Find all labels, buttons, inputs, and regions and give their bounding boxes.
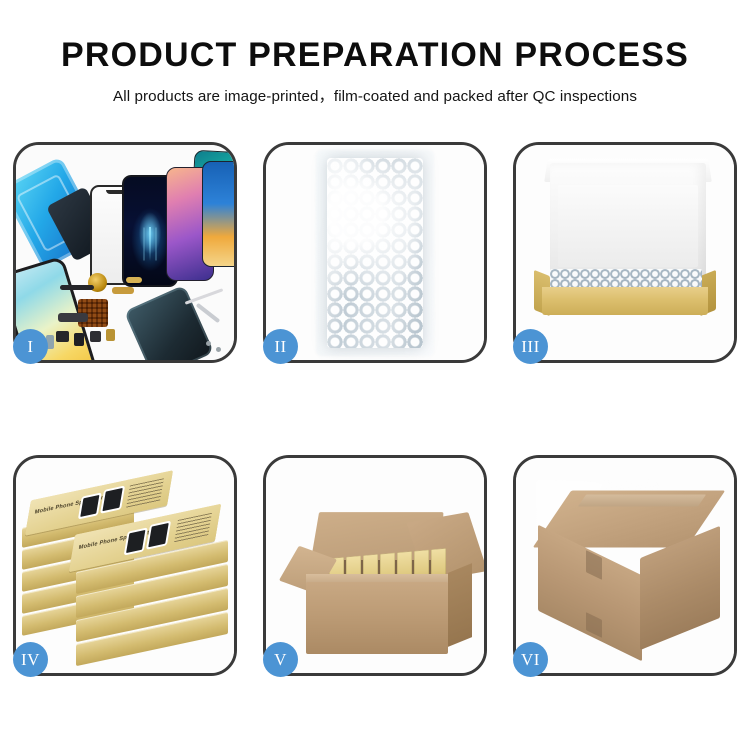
foam-insert-image — [558, 185, 698, 267]
gold-connector-part-image — [126, 277, 142, 283]
step-panel-3: III — [513, 142, 737, 363]
step-panel-4: Mobile Phone Spare Parts Mobile Phone Sp… — [13, 455, 237, 676]
flex-bar-part-image — [60, 285, 94, 290]
kraft-tray-front-image — [542, 287, 708, 315]
step-panel-5: V — [263, 455, 487, 676]
step-panel-6: VI — [513, 455, 737, 676]
step-badge-4: IV — [13, 642, 48, 677]
header: PRODUCT PREPARATION PROCESS All products… — [0, 0, 750, 104]
small-component-a-image — [56, 331, 69, 342]
step-badge-1: I — [13, 329, 48, 364]
small-component-c-image — [90, 331, 101, 342]
step-image-4: Mobile Phone Spare Parts Mobile Phone Sp… — [16, 458, 234, 673]
carton-right-side-image — [448, 563, 472, 647]
page-title: PRODUCT PREPARATION PROCESS — [0, 0, 750, 72]
step-badge-6: VI — [513, 642, 548, 677]
step-panel-1: I — [13, 142, 237, 363]
small-component-d-image — [106, 329, 115, 341]
open-carton-image — [284, 498, 472, 658]
bubble-wrap-image — [327, 158, 423, 348]
carton-front-face-image — [306, 582, 448, 654]
sealed-carton-image — [536, 488, 722, 654]
retail-box-stack-image: Mobile Phone Spare Parts Mobile Phone Sp… — [20, 480, 234, 660]
step-image-3 — [516, 145, 734, 360]
step-panel-2: II — [263, 142, 487, 363]
flex-cable-part-image — [58, 313, 88, 322]
step-image-1 — [16, 145, 234, 360]
step-image-6 — [516, 458, 734, 673]
screw-b-image — [216, 347, 221, 352]
step-badge-2: II — [263, 329, 298, 364]
packing-tape-image — [578, 495, 706, 507]
step-image-2 — [266, 145, 484, 360]
tweezer-tool-image — [185, 288, 224, 304]
gold-flex-part-image — [112, 287, 134, 294]
screw-a-image — [206, 341, 211, 346]
product-preparation-infographic: PRODUCT PREPARATION PROCESS All products… — [0, 0, 750, 750]
step-image-5 — [266, 458, 484, 673]
page-subtitle: All products are image-printed，film-coat… — [0, 72, 750, 104]
step-badge-5: V — [263, 642, 298, 677]
step-badge-3: III — [513, 329, 548, 364]
blue-orange-screen-image — [202, 161, 234, 267]
steps-grid: I II III — [13, 142, 737, 678]
small-component-b-image — [74, 333, 84, 346]
